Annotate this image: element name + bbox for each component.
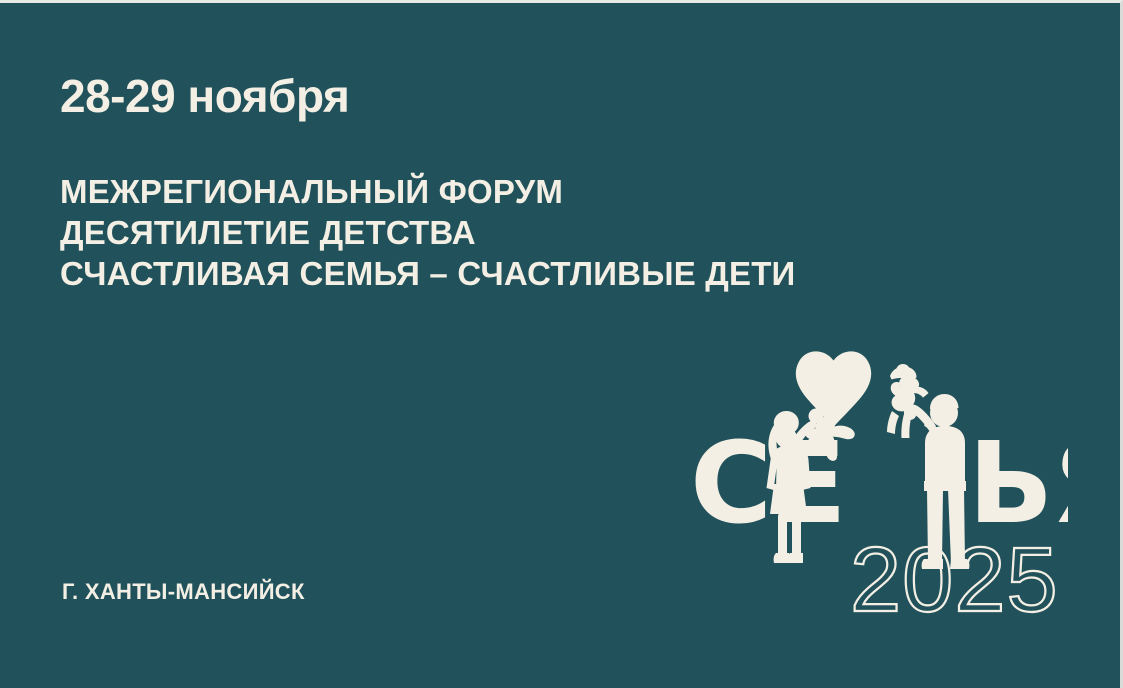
forum-title-line-1: МЕЖРЕГИОНАЛЬНЫЙ ФОРУМ — [60, 171, 795, 212]
forum-title-line-2: ДЕСЯТИЛЕТИЕ ДЕТСТВА — [60, 212, 795, 253]
semya-2025-logo: СЕ — [668, 329, 1068, 629]
heart-icon — [796, 351, 871, 427]
event-city: Г. ХАНТЫ-МАНСИЙСК — [62, 579, 305, 605]
logo-year: 2025 — [850, 529, 1059, 629]
forum-title-line-3: СЧАСТЛИВАЯ СЕМЬЯ – СЧАСТЛИВЫЕ ДЕТИ — [60, 253, 795, 294]
forum-poster: 28-29 ноября МЕЖРЕГИОНАЛЬНЫЙ ФОРУМ ДЕСЯТ… — [0, 0, 1123, 688]
forum-title: МЕЖРЕГИОНАЛЬНЫЙ ФОРУМ ДЕСЯТИЛЕТИЕ ДЕТСТВ… — [60, 171, 795, 294]
event-date: 28-29 ноября — [60, 73, 349, 119]
